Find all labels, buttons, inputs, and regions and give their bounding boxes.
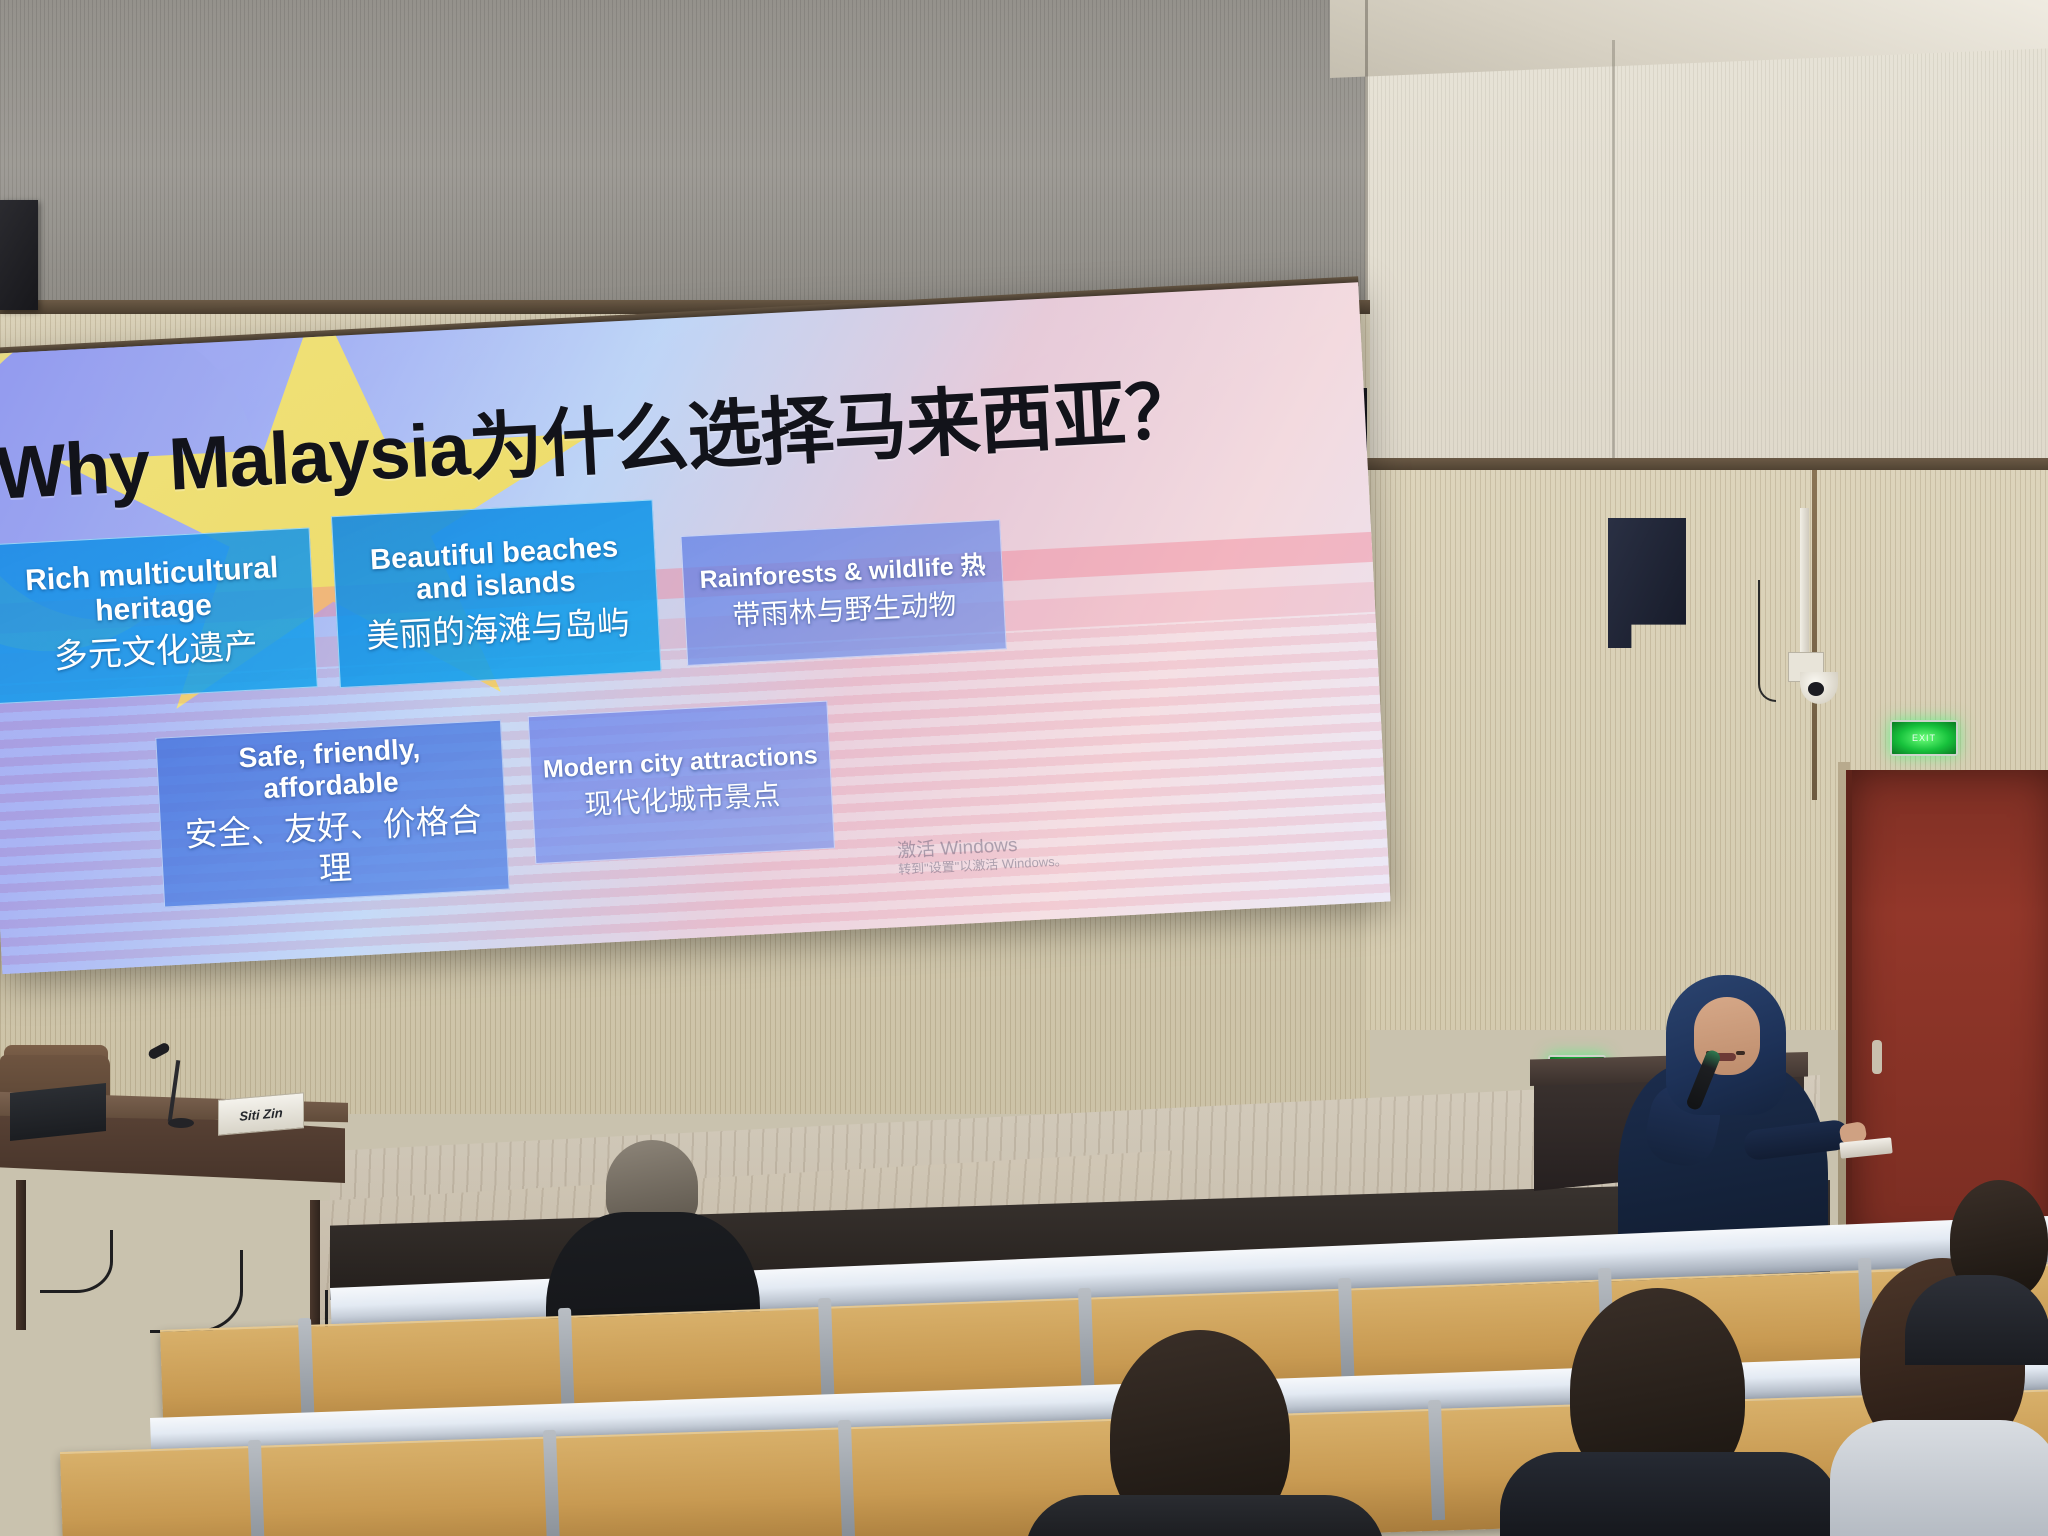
camera-mount-pole (1800, 508, 1809, 658)
card-2-en: Beautiful beaches and islands (343, 530, 646, 611)
upper-wall-left (0, 0, 1365, 300)
camera-lens-icon (1808, 682, 1824, 696)
slide-card-city: Modern city attractions 现代化城市景点 (528, 701, 835, 864)
wall-speaker-left-icon (0, 200, 38, 310)
card-1-zh: 多元文化遗产 (53, 626, 259, 679)
exit-sign-right: EXIT (1890, 720, 1958, 756)
slide-title-zh: 为什么选择马来西亚？ (467, 369, 1200, 490)
card-5-zh: 现代化城市景点 (583, 777, 781, 822)
slide-card-heritage: Rich multicultural heritage 多元文化遗产 (0, 527, 318, 704)
slide-card-safe: Safe, friendly, affordable 安全、友好、价格合理 (155, 720, 509, 908)
floor-cable-2 (150, 1250, 243, 1333)
student-shoulders-1 (1025, 1495, 1385, 1536)
podium-nameplate: Siti Zin (218, 1092, 304, 1136)
podium-laptop-icon[interactable] (10, 1083, 106, 1141)
slide-card-rainforests: Rainforests & wildlife 热 带雨林与野生动物 (680, 519, 1006, 666)
wall-cable (1758, 580, 1776, 702)
lecture-hall-photo: EXIT EXIT Why Malaysia为什么选择马来西亚？ Rich mu… (0, 0, 2048, 1536)
card-4-zh: 安全、友好、价格合理 (170, 798, 498, 897)
card-1-en: Rich multicultural heritage (2, 550, 303, 633)
wall-seam-secondary (1612, 40, 1615, 470)
slide-card-beaches: Beautiful beaches and islands 美丽的海滩与岛屿 (331, 499, 662, 688)
slide-surface: Why Malaysia为什么选择马来西亚？ Rich multicultura… (0, 282, 1391, 974)
wall-corner-moulding (1812, 470, 1817, 800)
student-shoulders-4 (1905, 1275, 2048, 1365)
card-2-zh: 美丽的海滩与岛屿 (365, 602, 631, 657)
podium-microphone-base (168, 1118, 194, 1128)
presenter-eye-right (1736, 1051, 1745, 1055)
exit-door[interactable] (1846, 770, 2048, 1250)
student-shoulders-2 (1500, 1452, 1840, 1536)
door-handle[interactable] (1872, 1040, 1882, 1074)
exit-sign-label: EXIT (1892, 722, 1956, 754)
card-3-zh: 带雨林与野生动物 (732, 586, 958, 633)
card-4-en: Safe, friendly, affordable (167, 730, 494, 810)
floor-cable-1 (40, 1230, 113, 1293)
slide-title-en: Why Malaysia (0, 407, 471, 515)
upper-wall-right (1365, 40, 2048, 470)
projection-screen[interactable]: Why Malaysia为什么选择马来西亚？ Rich multicultura… (0, 282, 1391, 974)
nameplate-text: Siti Zin (239, 1105, 282, 1124)
table-leg-left (16, 1180, 26, 1330)
student-shoulders-3 (1830, 1420, 2048, 1536)
